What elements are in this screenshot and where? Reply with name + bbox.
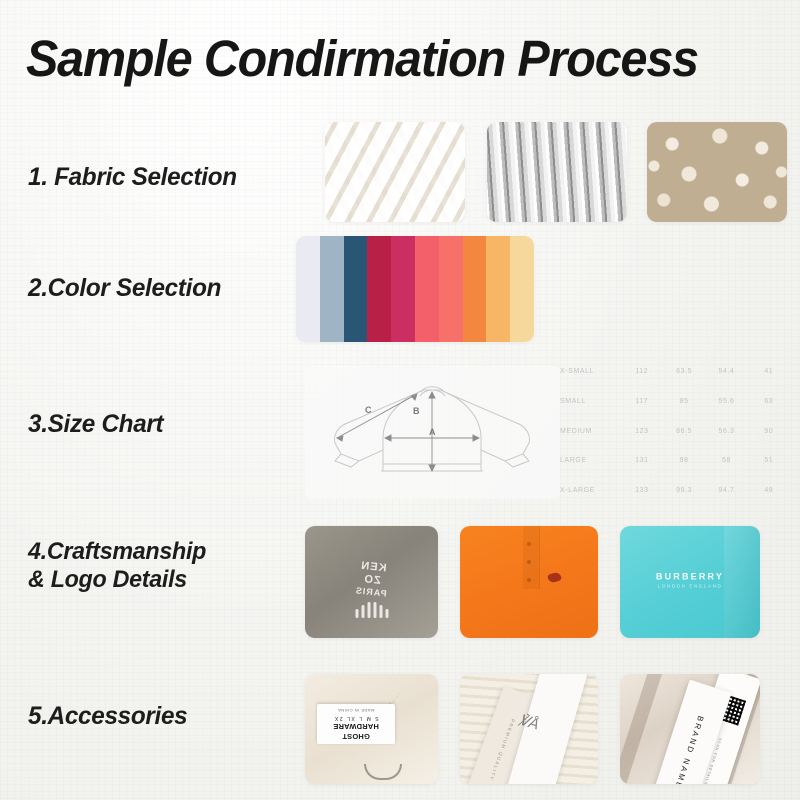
step-label-color: 2.Color Selection xyxy=(28,274,221,304)
fabric-swatch-boucle-popcorn[interactable] xyxy=(647,122,787,222)
row-craftsmanship: 4.Craftsmanship & Logo Details KEN ZO PA… xyxy=(0,516,800,641)
burberry-subtitle: LONDON ENGLAND xyxy=(656,583,724,588)
accessory-image-brand-name-tag[interactable]: SCAN FOR DETAILS BRAND NAME xyxy=(620,674,760,784)
size-value: 131 xyxy=(621,457,663,464)
table-row: X-SMALL 112 63.5 54.4 41 xyxy=(560,368,790,375)
craft-image-burberry-print[interactable]: BURBERRY LONDON ENGLAND xyxy=(620,526,760,638)
woven-care-label: GHOST HARDWARE S M L XL 2X MADE IN CHINA xyxy=(317,704,395,744)
size-label: X-SMALL xyxy=(560,368,621,375)
size-value: 55.6 xyxy=(705,398,747,405)
size-value: 98 xyxy=(663,457,705,464)
care-label-footnote: MADE IN CHINA xyxy=(337,707,374,712)
brand-name-text: BRAND NAME xyxy=(673,714,705,784)
size-value: 94.7 xyxy=(705,487,747,494)
kenzo-line2: ZO xyxy=(362,573,380,587)
table-row: X-LARGE 133 99.3 94.7 49 xyxy=(560,487,790,494)
row-color-selection: 2.Color Selection xyxy=(0,232,800,347)
step-label-craftsmanship: 4.Craftsmanship & Logo Details xyxy=(28,538,206,595)
fabric-fold xyxy=(724,526,760,638)
polo-button xyxy=(527,578,531,582)
size-value: 49 xyxy=(748,487,790,494)
color-swatch-magenta[interactable] xyxy=(391,236,415,342)
diagram-marker-b: B xyxy=(413,406,420,416)
diagram-marker-a: A xyxy=(429,427,436,437)
fabric-swatch-chunky-cable-knit[interactable] xyxy=(325,122,465,222)
step-label-craftsmanship-line2: & Logo Details xyxy=(28,566,206,594)
table-row: MEDIUM 123 86.5 56.3 90 xyxy=(560,428,790,435)
size-label: SMALL xyxy=(560,398,621,405)
care-label-line1: GHOST xyxy=(342,732,370,740)
row-fabric-selection: 1. Fabric Selection xyxy=(0,108,800,228)
color-swatch-off-white[interactable] xyxy=(296,236,320,342)
size-label: LARGE xyxy=(560,457,621,464)
size-value: 41 xyxy=(748,368,790,375)
color-palette-strip[interactable] xyxy=(296,236,534,342)
sample-process-infographic: Sample Condirmation Process 1. Fabric Se… xyxy=(0,0,800,800)
row-accessories: 5.Accessories GHOST HARDWARE S M L XL 2X… xyxy=(0,662,800,790)
accessory-image-care-label[interactable]: GHOST HARDWARE S M L XL 2X MADE IN CHINA xyxy=(305,674,438,784)
size-value: 63 xyxy=(748,398,790,405)
step-label-accessories: 5.Accessories xyxy=(28,702,187,732)
size-value: 63.5 xyxy=(663,368,705,375)
step-label-fabric: 1. Fabric Selection xyxy=(28,163,237,193)
size-value: 85 xyxy=(663,398,705,405)
craft-image-orange-polo[interactable] xyxy=(460,526,598,638)
embroidered-crest-icon xyxy=(547,571,562,584)
size-value: 112 xyxy=(621,368,663,375)
row-size-chart: 3.Size Chart xyxy=(0,360,800,505)
step-label-craftsmanship-line1: 4.Craftsmanship xyxy=(28,538,206,566)
color-swatch-dusty-blue[interactable] xyxy=(320,236,344,342)
burberry-logo-icon: BURBERRY LONDON ENGLAND xyxy=(656,571,724,588)
page-title: Sample Condirmation Process xyxy=(26,32,748,86)
step-label-size: 3.Size Chart xyxy=(28,410,163,440)
polo-button xyxy=(527,542,531,546)
diagram-marker-c: C xyxy=(365,405,372,415)
size-value: 123 xyxy=(621,428,663,435)
size-chart-diagram[interactable]: A B C xyxy=(305,366,560,499)
kenzo-logo-icon: KEN ZO PARIS xyxy=(354,559,390,600)
table-row: LARGE 131 98 58 51 xyxy=(560,457,790,464)
kenzo-rays-icon xyxy=(355,602,388,618)
size-label: X-LARGE xyxy=(560,487,621,494)
accessory-image-hang-tags[interactable]: PREMIUM QUALITY ℣Å xyxy=(460,674,598,784)
fabric-stripe xyxy=(620,674,664,784)
polo-button xyxy=(527,560,531,564)
size-value: 86.5 xyxy=(663,428,705,435)
color-swatch-salmon[interactable] xyxy=(439,236,463,342)
sweater-technical-drawing-icon: A B C xyxy=(305,366,560,499)
size-value: 54.4 xyxy=(705,368,747,375)
size-value: 90 xyxy=(748,428,790,435)
size-value: 51 xyxy=(748,457,790,464)
care-label-sizes: S M L XL 2X xyxy=(333,714,378,720)
size-value: 56.3 xyxy=(705,428,747,435)
color-swatch-crimson[interactable] xyxy=(367,236,391,342)
size-chart-table[interactable]: X-SMALL 112 63.5 54.4 41 SMALL 117 85 55… xyxy=(560,368,790,494)
kenzo-line3: PARIS xyxy=(354,585,387,598)
fabric-swatch-wavy-ribbed-weave[interactable] xyxy=(487,122,627,222)
size-value: 117 xyxy=(621,398,663,405)
color-swatch-orange[interactable] xyxy=(463,236,487,342)
color-swatch-coral-red[interactable] xyxy=(415,236,439,342)
craft-image-kenzo-logo[interactable]: KEN ZO PARIS xyxy=(305,526,438,638)
burberry-brand: BURBERRY xyxy=(656,571,724,581)
color-swatch-light-orange[interactable] xyxy=(486,236,510,342)
care-label-line2: HARDWARE xyxy=(333,722,379,730)
size-value: 133 xyxy=(621,487,663,494)
size-value: 99.3 xyxy=(663,487,705,494)
color-swatch-deep-teal[interactable] xyxy=(344,236,368,342)
table-row: SMALL 117 85 55.6 63 xyxy=(560,398,790,405)
drawcord-icon xyxy=(364,764,402,780)
color-swatch-sand-yellow[interactable] xyxy=(510,236,534,342)
size-value: 58 xyxy=(705,457,747,464)
size-label: MEDIUM xyxy=(560,428,621,435)
